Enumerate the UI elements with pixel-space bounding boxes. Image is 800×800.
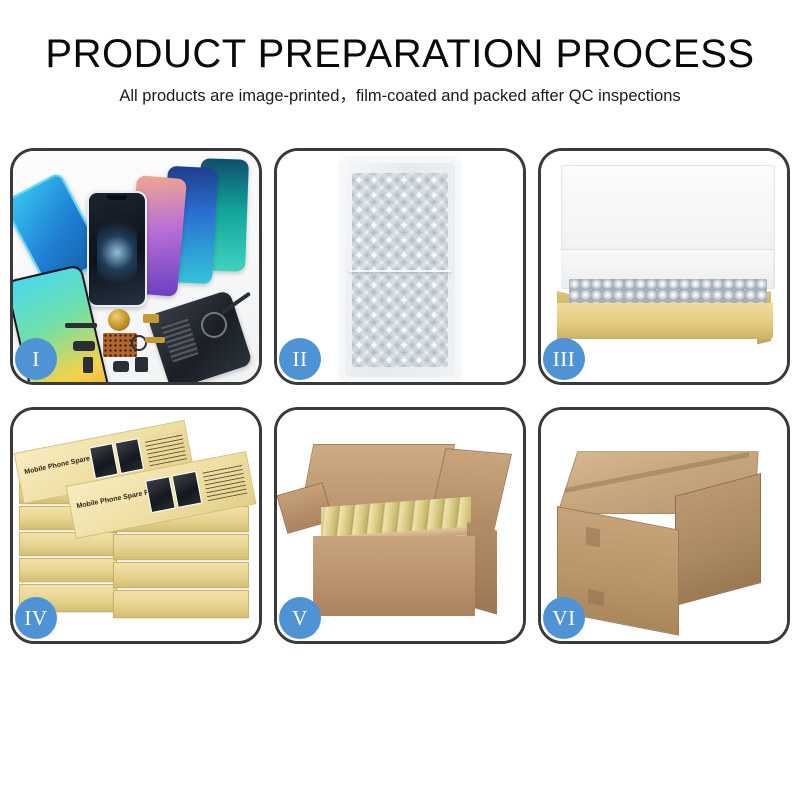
process-step-panel-6[interactable]: VI [538,407,790,644]
carton-front-panel [313,536,475,616]
step-badge-1: I [15,338,57,380]
camera-module-icon [73,341,95,351]
box-spec-lines-rear [144,432,187,467]
box-window-front-2 [171,471,202,508]
panel-image-area-1: I [13,151,259,382]
step-badge-2: II [279,338,321,380]
step-badge-6: VI [543,597,585,639]
bubble-wrap-seam [349,270,451,272]
connector-gold-icon [143,314,159,323]
box-window-front-1 [145,476,176,513]
sim-tray-icon [83,357,93,373]
flex-cable-icon [65,323,97,328]
antenna-strip-icon [145,337,165,343]
box-edge-l4 [19,558,117,582]
screw-set-icon [225,363,230,368]
process-step-panel-5[interactable]: V [274,407,526,644]
panel-image-area-2: II [277,151,523,382]
process-step-panel-1[interactable]: I [10,148,262,385]
step-badge-3: III [543,338,585,380]
step-badge-4: IV [15,597,57,639]
speaker-coil-icon [108,309,130,331]
box-spec-lines-front [202,464,247,501]
box-edge-r4 [113,590,249,618]
sealed-carton-side-right [675,473,761,606]
bubble-wrap-sheet-icon [345,163,455,377]
process-step-panel-3[interactable]: III [538,148,790,385]
process-step-grid: I II III [10,148,790,718]
process-step-panel-4[interactable]: Mobile Phone Spare Parts Mobile Phone Sp… [10,407,262,644]
process-step-panel-2[interactable]: II [274,148,526,385]
box-window-rear-2 [114,438,144,474]
panel-image-area-6: VI [541,410,787,641]
panel-image-area-4: Mobile Phone Spare Parts Mobile Phone Sp… [13,410,259,641]
box-edge-r2 [113,534,249,560]
page-title: PRODUCT PREPARATION PROCESS [0,33,800,75]
panel-image-area-5: V [277,410,523,641]
vibration-motor-icon [113,361,129,372]
carton-handle-slot-top [586,527,600,548]
box-front-panel [557,303,773,339]
box-edge-l3 [19,532,117,556]
page-subtitle: All products are image-printed，film-coat… [0,87,800,107]
panel-image-area-3: III [541,151,787,382]
page-header: PRODUCT PREPARATION PROCESS All products… [0,0,800,107]
battery-connector-icon [135,357,148,372]
box-edge-r3 [113,562,249,588]
screen-protector-icon [87,191,147,307]
carton-handle-slot-bottom [588,589,604,606]
box-window-rear-1 [89,443,119,479]
step-badge-5: V [279,597,321,639]
